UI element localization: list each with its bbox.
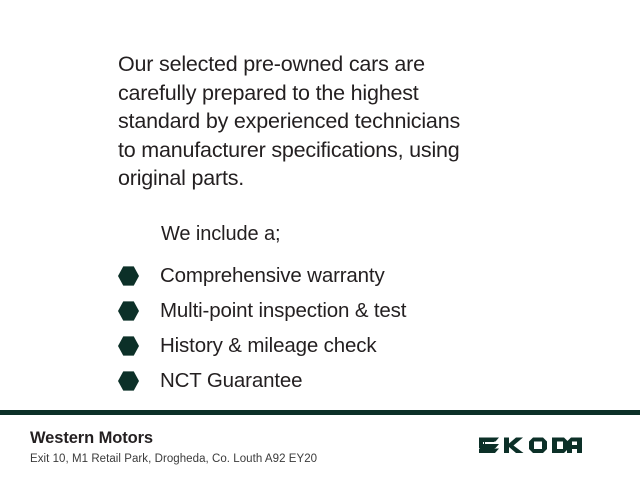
list-item-label: Comprehensive warranty [160,264,385,288]
skoda-wordmark-logo [479,437,610,458]
list-item: NCT Guarantee [118,364,594,399]
content-area: Our selected pre-owned cars are carefull… [0,0,640,410]
dealer-address: Exit 10, M1 Retail Park, Drogheda, Co. L… [30,451,317,467]
promo-slide: Our selected pre-owned cars are carefull… [0,0,640,480]
dealer-info-block: Western Motors Exit 10, M1 Retail Park, … [30,428,317,467]
hexagon-bullet-icon [118,301,139,322]
list-item: History & mileage check [118,329,594,364]
list-item-label: NCT Guarantee [160,369,302,393]
list-item-label: Multi-point inspection & test [160,299,406,323]
list-item-label: History & mileage check [160,334,376,358]
inclusions-list: Comprehensive warranty Multi-point inspe… [46,259,594,399]
hexagon-bullet-icon [118,266,139,287]
footer-bar: Western Motors Exit 10, M1 Retail Park, … [0,415,640,480]
include-intro-text: We include a; [46,221,594,247]
list-item: Comprehensive warranty [118,259,594,294]
list-item: Multi-point inspection & test [118,294,594,329]
hexagon-bullet-icon [118,371,139,392]
headline-paragraph: Our selected pre-owned cars are carefull… [46,50,476,193]
hexagon-bullet-icon [118,336,139,357]
dealer-name: Western Motors [30,428,317,449]
